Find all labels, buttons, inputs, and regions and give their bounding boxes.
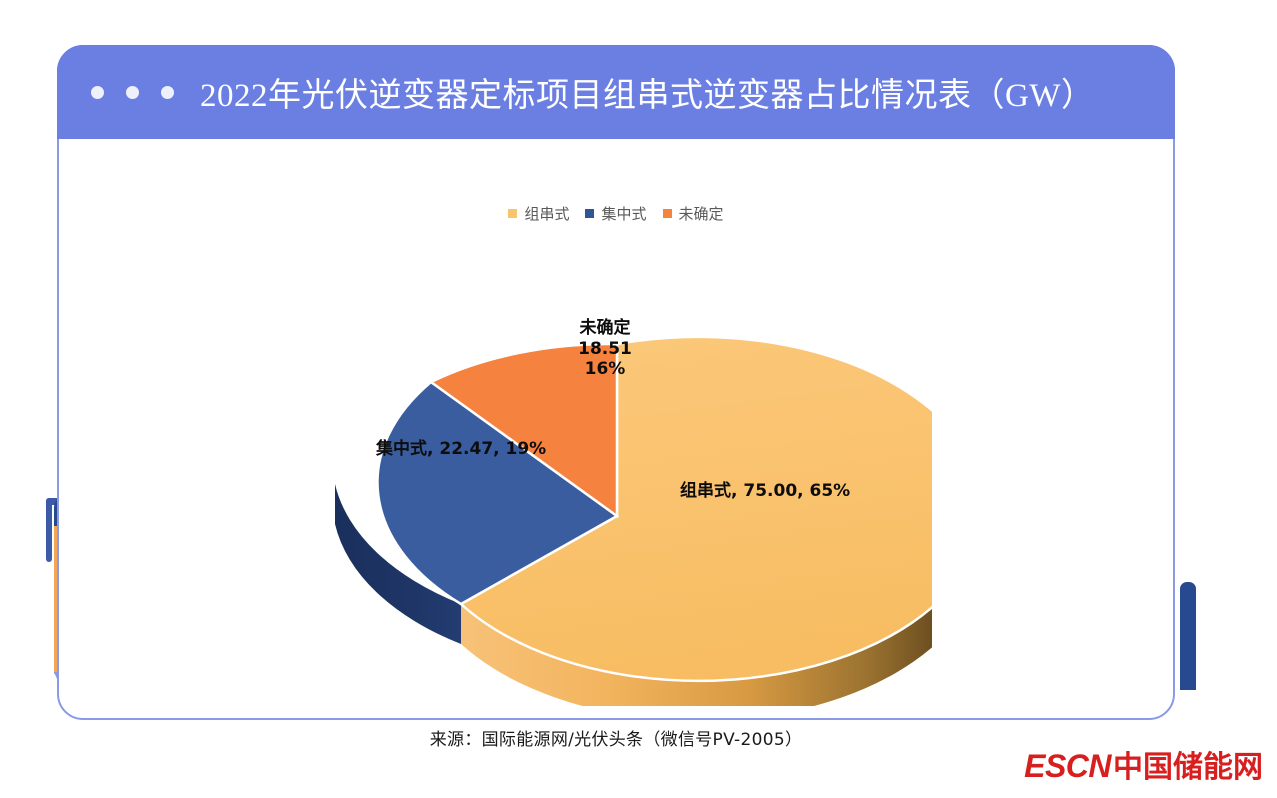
- chart-legend: 组串式 集中式 未确定: [59, 203, 1173, 224]
- data-label-jizhongshi: 集中式, 22.47, 19%: [376, 439, 546, 460]
- data-label-weiqueding: 未确定 18.51 16%: [557, 318, 653, 380]
- page-title: 2022年光伏逆变器定标项目组串式逆变器占比情况表（GW）: [200, 68, 1094, 116]
- window-dot-3: [161, 86, 174, 99]
- legend-label-zuchuanshi: 组串式: [524, 203, 569, 224]
- window-dots: [91, 86, 174, 99]
- data-label-weiqueding-percent: 16%: [557, 359, 653, 380]
- legend-swatch-weiqueding: [663, 209, 672, 218]
- source-note: 来源：国际能源网/光伏头条（微信号PV-2005）: [59, 725, 1173, 750]
- legend-item-weiqueding[interactable]: 未确定: [663, 203, 724, 224]
- watermark-logo: ESCN 中国储能网: [1024, 742, 1263, 786]
- legend-label-weiqueding: 未确定: [679, 203, 724, 224]
- data-label-weiqueding-name: 未确定: [557, 318, 653, 339]
- legend-swatch-zuchuanshi: [508, 209, 517, 218]
- window-dot-2: [126, 86, 139, 99]
- watermark-escn-text: ESCN: [1024, 748, 1111, 785]
- pie-chart: 未确定 18.51 16% 集中式, 22.47, 19% 组串式, 75.00…: [302, 306, 932, 706]
- chart-body: 组串式 集中式 未确定: [59, 141, 1173, 718]
- legend-item-zuchuanshi[interactable]: 组串式: [508, 203, 569, 224]
- window-dot-1: [91, 86, 104, 99]
- card-header: 2022年光伏逆变器定标项目组串式逆变器占比情况表（GW）: [57, 45, 1175, 139]
- watermark-cn-text: 中国储能网: [1113, 742, 1263, 786]
- legend-swatch-jizhongshi: [585, 209, 594, 218]
- legend-label-jizhongshi: 集中式: [601, 203, 646, 224]
- decorative-right-bar: [1180, 582, 1196, 690]
- legend-item-jizhongshi[interactable]: 集中式: [585, 203, 646, 224]
- chart-card: 2022年光伏逆变器定标项目组串式逆变器占比情况表（GW） 组串式 集中式 未确…: [57, 45, 1175, 720]
- data-label-weiqueding-value: 18.51: [557, 339, 653, 360]
- data-label-zuchuanshi: 组串式, 75.00, 65%: [680, 481, 850, 502]
